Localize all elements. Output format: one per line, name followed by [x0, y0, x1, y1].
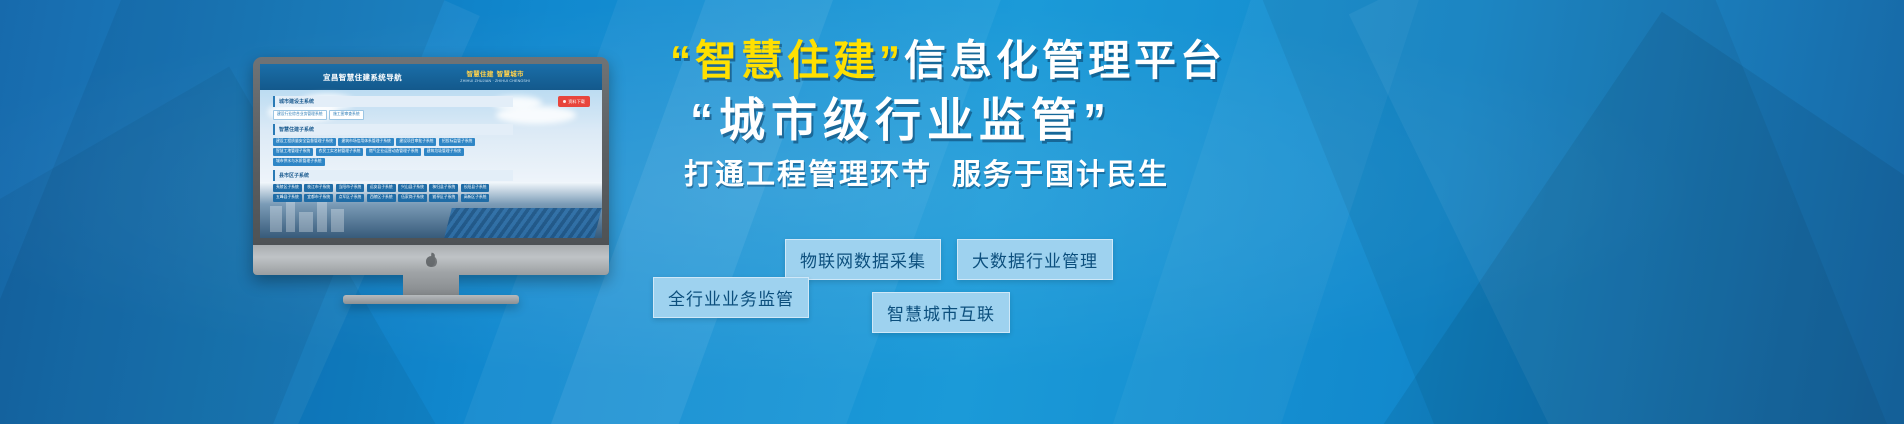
dashboard-chip[interactable]: 施工图审查系统	[329, 110, 364, 120]
headline-line-3: 打通工程管理环节服务于国计民生	[684, 161, 1848, 190]
dashboard-chip[interactable]: 宜都市子系统	[304, 194, 333, 202]
dashboard-chip[interactable]: 猇亭区子系统	[429, 194, 458, 202]
dashboard-section: 智慧住建子系统 建设工程质量安全监督管理子系统 建筑市场信用体系管理子系统 建设…	[273, 124, 513, 166]
headline-line-3-part-1: 打通工程管理环节	[684, 159, 932, 191]
monitor-stand	[343, 295, 519, 304]
dashboard-chip[interactable]: 夷陵区子系统	[273, 184, 302, 192]
headline-line-1-rest: 信息化管理平台	[904, 37, 1226, 84]
dashboard-chip[interactable]: 五峰县子系统	[273, 194, 302, 202]
monitor-neck	[403, 273, 459, 297]
download-button-label: 资料下载	[568, 99, 585, 105]
screen-body: 城市建设主系统 建设行业综合业务管理系统 施工图审查系统 智慧住建子系统 建设工…	[260, 90, 602, 238]
headline-line-2: “城市级行业监管”	[690, 97, 1848, 143]
dashboard-chip[interactable]: 建筑垃圾管理子系统	[424, 148, 464, 156]
dashboard-chip[interactable]: 农民工实名制管理子系统	[316, 148, 364, 156]
dashboard-chip[interactable]: 招投标监管子系统	[439, 138, 475, 146]
dashboard-section: 县市区子系统 夷陵区子系统 枝江市子系统 当阳市子系统 远安县子系统 兴山县子系…	[273, 170, 513, 202]
building-shape	[317, 202, 327, 232]
dashboard-chip[interactable]: 建设项目审批子系统	[396, 138, 436, 146]
feature-pill-bigdata[interactable]: 大数据行业管理	[957, 239, 1113, 280]
screen-header: 宜昌智慧住建系统导航 智慧住建 智慧城市 ZHIHUI ZHUJIAN · ZH…	[260, 64, 602, 90]
download-button[interactable]: 资料下载	[558, 96, 590, 107]
dashboard-panel: 城市建设主系统 建设行业综合业务管理系统 施工图审查系统 智慧住建子系统 建设工…	[273, 96, 513, 206]
building-shape	[331, 209, 344, 232]
dashboard-chip[interactable]: 建设行业综合业务管理系统	[273, 110, 327, 120]
monitor-bezel: 宜昌智慧住建系统导航 智慧住建 智慧城市 ZHIHUI ZHUJIAN · ZH…	[253, 57, 609, 275]
dashboard-section: 城市建设主系统 建设行业综合业务管理系统 施工图审查系统	[273, 96, 513, 120]
screen-logo-cn: 智慧住建	[466, 68, 493, 78]
section-chip-list: 夷陵区子系统 枝江市子系统 当阳市子系统 远安县子系统 兴山县子系统 秭归县子系…	[273, 184, 513, 202]
download-icon	[563, 100, 566, 103]
dashboard-chip[interactable]: 枝江市子系统	[304, 184, 333, 192]
dashboard-chip[interactable]: 伍家岗子系统	[398, 194, 427, 202]
building-shape	[270, 206, 282, 232]
dashboard-chip[interactable]: 当阳市子系统	[336, 184, 365, 192]
headline-highlight: “智慧住建”	[670, 37, 904, 84]
screen-logo-cn2: 智慧城市	[497, 68, 524, 78]
monitor-mockup: 宜昌智慧住建系统导航 智慧住建 智慧城市 ZHIHUI ZHUJIAN · ZH…	[253, 57, 609, 304]
dashboard-chip[interactable]: 城市供水与水质管理子系统	[273, 158, 325, 166]
section-heading: 城市建设主系统	[273, 96, 513, 107]
section-chip-list: 建设工程质量安全监督管理子系统 建筑市场信用体系管理子系统 建设项目审批子系统 …	[273, 138, 513, 166]
building-shape	[299, 212, 313, 232]
headline-line-1: “智慧住建”信息化管理平台	[670, 40, 1848, 82]
dashboard-chip[interactable]: 兴山县子系统	[398, 184, 427, 192]
screen-logo: 智慧住建 智慧城市 ZHIHUI ZHUJIAN · ZHIHUI CHENGS…	[460, 68, 530, 83]
feature-pill-industry[interactable]: 全行业业务监管	[653, 277, 809, 318]
dashboard-chip[interactable]: 西陵区子系统	[367, 194, 396, 202]
dashboard-chip[interactable]: 建设工程质量安全监督管理子系统	[273, 138, 336, 146]
headline-line-3-part-2: 服务于国计民生	[952, 159, 1169, 191]
feature-pill-iot[interactable]: 物联网数据采集	[785, 239, 941, 280]
screen-title: 宜昌智慧住建系统导航	[323, 72, 402, 83]
apple-logo-icon	[425, 253, 438, 268]
monitor-chin	[253, 245, 609, 275]
section-heading: 县市区子系统	[273, 170, 513, 181]
dashboard-chip[interactable]: 点军区子系统	[336, 194, 365, 202]
feature-pill-smartcity[interactable]: 智慧城市互联	[872, 292, 1010, 333]
solar-panel-shape	[444, 208, 601, 238]
monitor-screen: 宜昌智慧住建系统导航 智慧住建 智慧城市 ZHIHUI ZHUJIAN · ZH…	[260, 64, 602, 238]
section-chip-list: 建设行业综合业务管理系统 施工图审查系统	[273, 110, 513, 120]
screen-logo-en: ZHIHUI ZHUJIAN · ZHIHUI CHENGSHI	[460, 79, 530, 83]
dashboard-chip[interactable]: 建筑市场信用体系管理子系统	[338, 138, 393, 146]
dashboard-chip[interactable]: 燃气企业运营动态管理子系统	[366, 148, 421, 156]
dashboard-chip[interactable]: 高新区子系统	[461, 194, 490, 202]
dashboard-chip[interactable]: 秭归县子系统	[429, 184, 458, 192]
dashboard-chip[interactable]: 长阳县子系统	[461, 184, 490, 192]
promo-banner: 宜昌智慧住建系统导航 智慧住建 智慧城市 ZHIHUI ZHUJIAN · ZH…	[0, 0, 1904, 424]
dashboard-chip[interactable]: 智慧工地管理子系统	[273, 148, 313, 156]
headline-block: “智慧住建”信息化管理平台 “城市级行业监管” 打通工程管理环节服务于国计民生	[648, 40, 1848, 190]
dashboard-chip[interactable]: 远安县子系统	[367, 184, 396, 192]
section-heading: 智慧住建子系统	[273, 124, 513, 135]
